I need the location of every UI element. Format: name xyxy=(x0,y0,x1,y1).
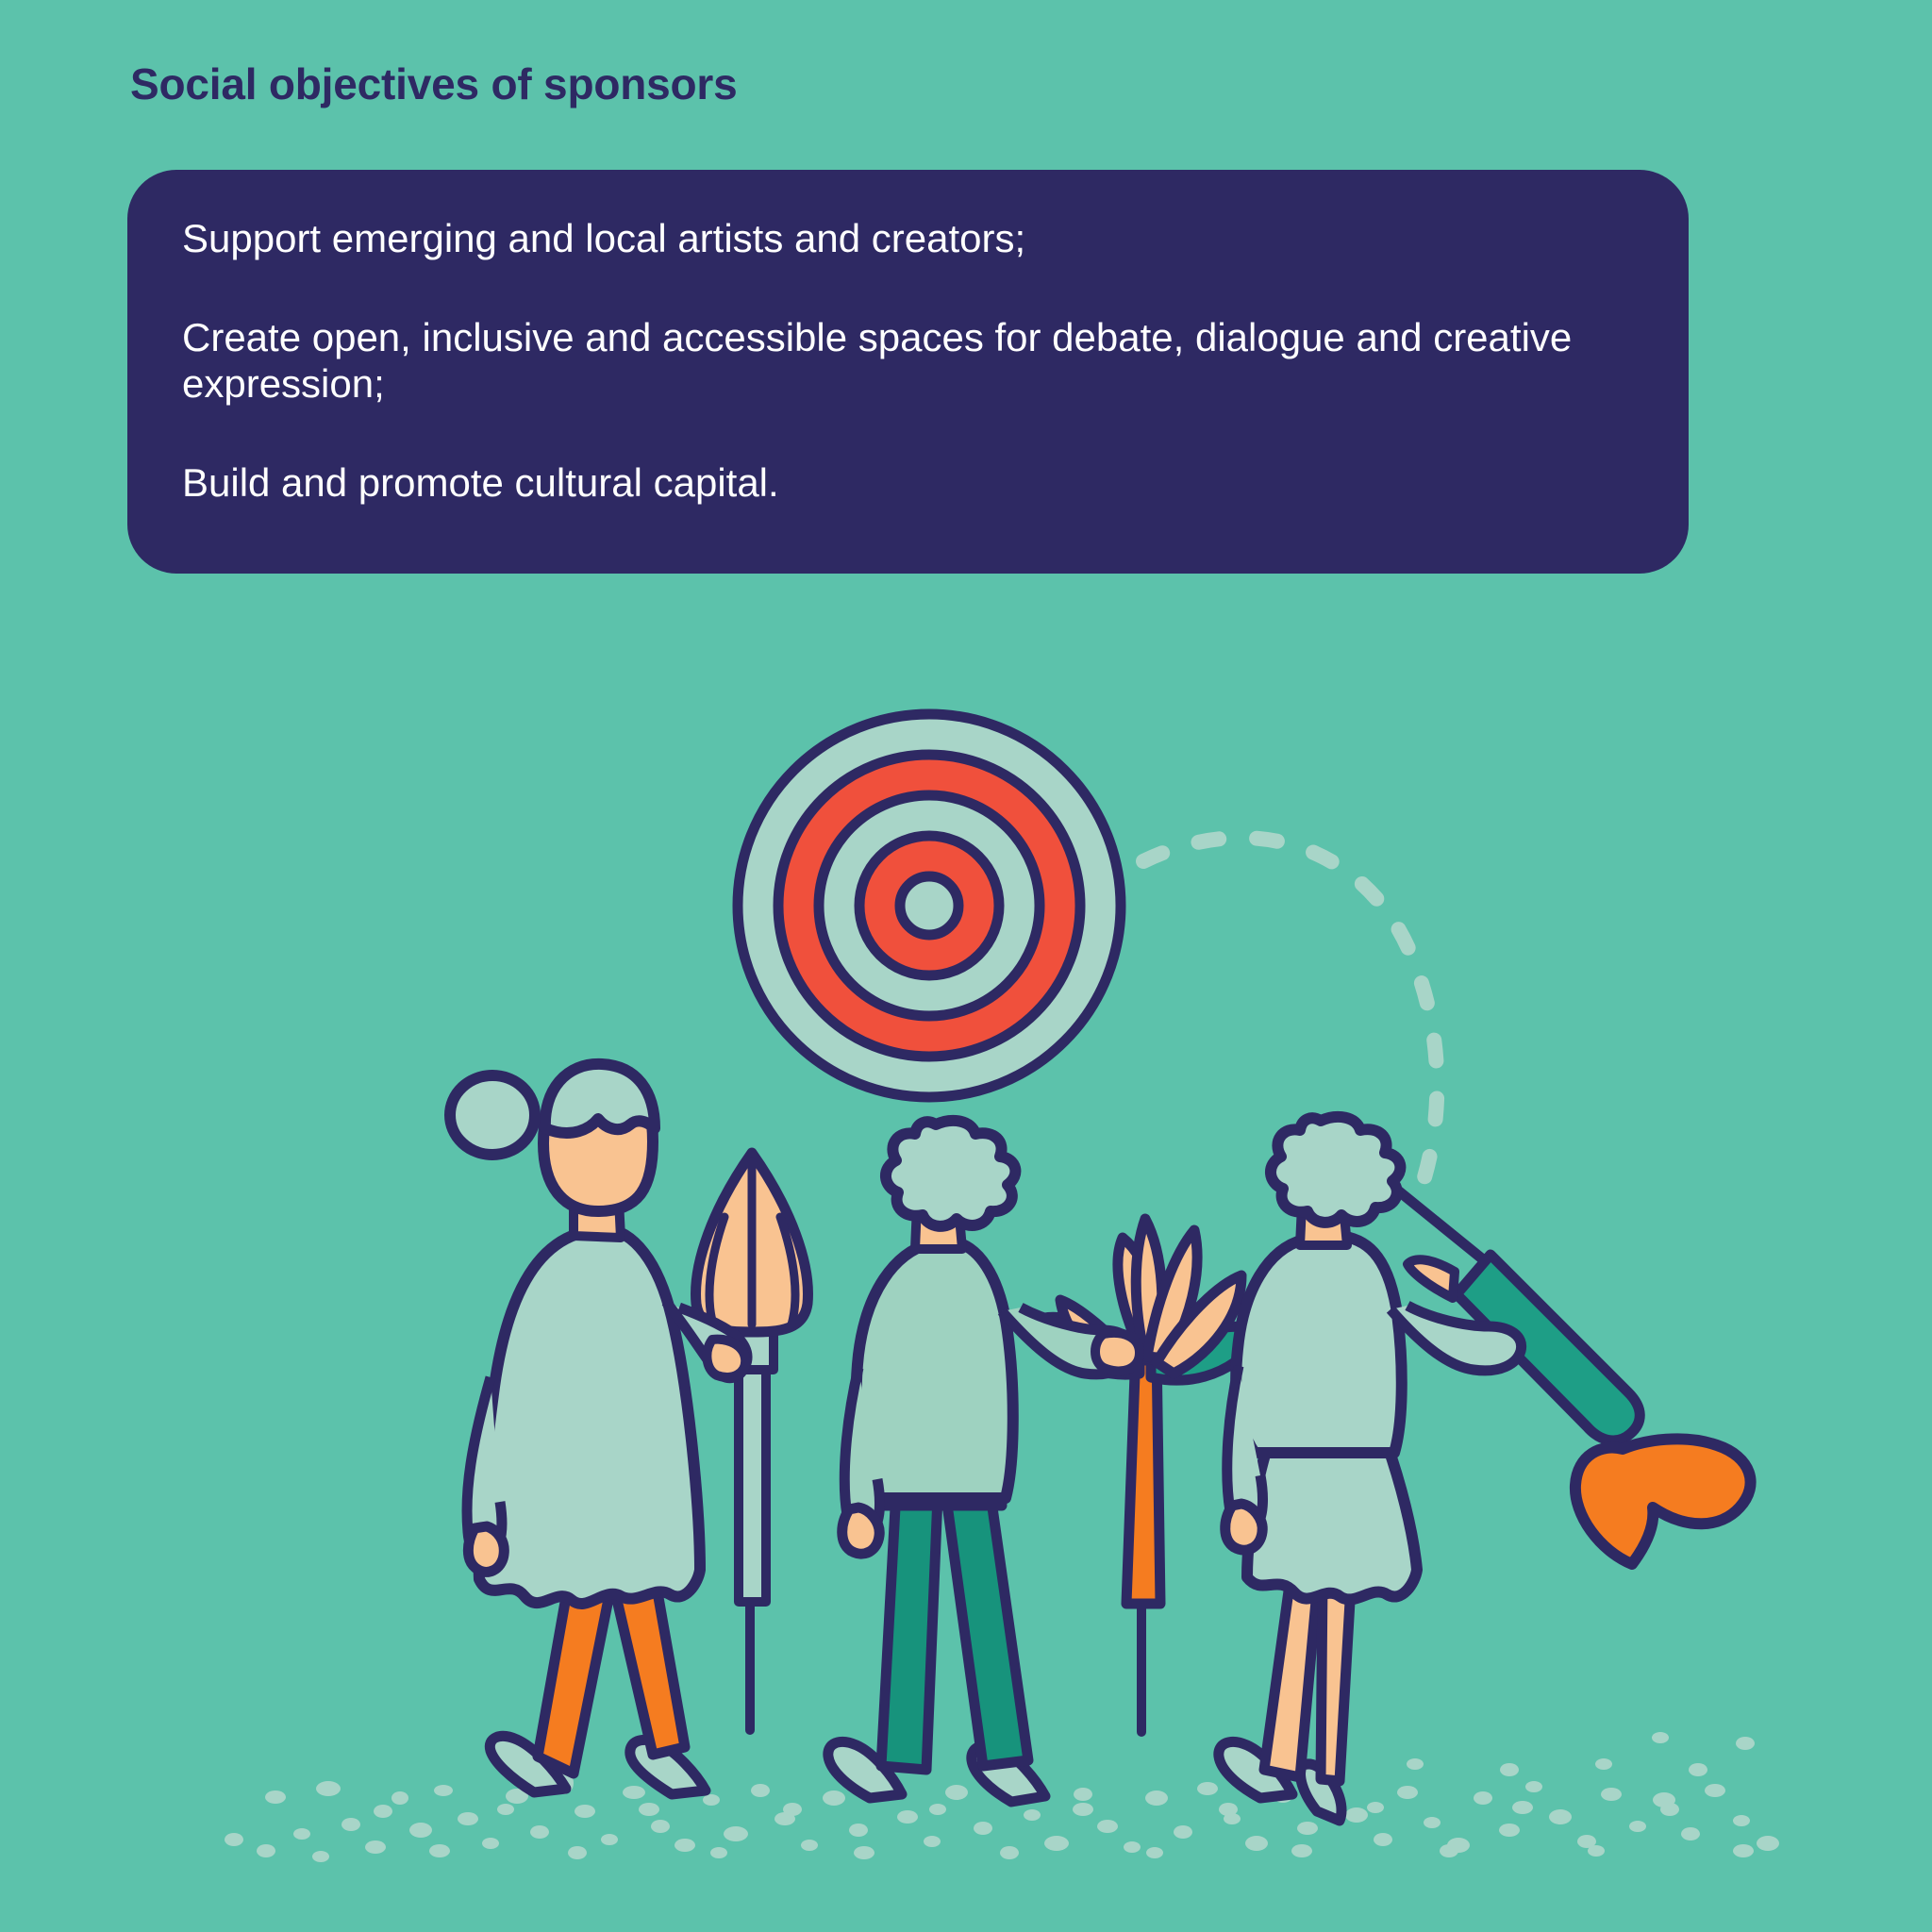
illustration-page: Social objectives of sponsors Support em… xyxy=(0,0,1932,1932)
figure-person-with-flower xyxy=(828,1121,1262,1802)
paintbrush-prop xyxy=(696,1153,808,1730)
bullseye-target xyxy=(738,714,1121,1097)
figure-artist-with-paintbrush xyxy=(450,1064,808,1794)
figure-person-with-arrow xyxy=(1219,1117,1751,1821)
illustration-svg xyxy=(0,0,1932,1932)
heart-arrow-prop xyxy=(1358,1158,1751,1564)
